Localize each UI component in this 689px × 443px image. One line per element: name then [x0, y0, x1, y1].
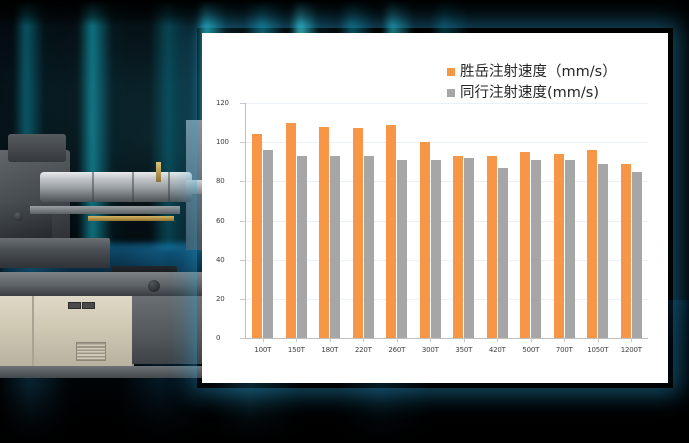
legend-swatch-gray-icon	[447, 89, 455, 97]
machine-tie-rod	[30, 206, 180, 214]
x-axis-tick-label: 1200T	[621, 346, 642, 354]
bar-shengyue	[252, 134, 262, 338]
chart-plot-area: 020406080100120 100T150T180T220T260T300T…	[230, 103, 648, 378]
bar-shengyue	[386, 125, 396, 338]
x-axis-tick-label: 420T	[489, 346, 506, 354]
x-axis-tick	[631, 338, 632, 342]
y-axis-tick-label: 120	[216, 99, 227, 107]
machine-rail	[0, 238, 110, 268]
bar-peer	[364, 156, 374, 338]
machine-cabinet	[0, 296, 134, 366]
bar-shengyue	[286, 123, 296, 338]
bar-shengyue	[621, 164, 631, 338]
bar-peer	[464, 158, 474, 338]
legend-swatch-orange-icon	[447, 68, 455, 76]
machine-cabinet-divider	[32, 296, 34, 366]
y-axis-tick-label: 80	[216, 177, 227, 185]
bar-peer	[297, 156, 307, 338]
legend-label-peer: 同行注射速度(mm/s)	[460, 86, 599, 101]
injection-molding-machine-image	[0, 120, 200, 320]
machine-vent-grille	[76, 342, 106, 361]
machine-motor-block	[8, 134, 66, 162]
bar-group: 300T	[414, 103, 448, 338]
x-axis-tick	[330, 338, 331, 342]
bar-peer	[598, 164, 608, 338]
background-bottom-vignette	[0, 385, 689, 443]
bar-group: 1050T	[581, 103, 615, 338]
bar-group: 500T	[514, 103, 548, 338]
bar-peer	[330, 156, 340, 338]
x-axis-tick	[363, 338, 364, 342]
machine-button	[68, 302, 81, 309]
y-axis-tick-label: 60	[216, 217, 227, 225]
x-axis-tick	[430, 338, 431, 342]
x-axis-tick-label: 180T	[321, 346, 338, 354]
x-axis-tick-label: 220T	[355, 346, 372, 354]
machine-button	[82, 302, 95, 309]
chart-panel: 胜岳注射速度（mm/s） 同行注射速度(mm/s) 02040608010012…	[202, 33, 668, 383]
x-axis-tick	[531, 338, 532, 342]
y-axis-tick-label: 100	[216, 138, 227, 146]
bar-group: 220T	[347, 103, 381, 338]
bar-peer	[565, 160, 575, 338]
machine-knob	[148, 280, 160, 292]
y-axis-tick-label: 20	[216, 295, 227, 303]
bar-peer	[397, 160, 407, 338]
bar-shengyue	[420, 142, 430, 338]
bar-shengyue	[319, 127, 329, 339]
x-axis-tick-label: 300T	[422, 346, 439, 354]
x-axis-tick-label: 260T	[388, 346, 405, 354]
machine-bench	[0, 272, 205, 296]
machine-gold-rod	[88, 216, 174, 221]
screenshot-root: 胜岳注射速度（mm/s） 同行注射速度(mm/s) 02040608010012…	[0, 0, 689, 443]
chart-legend: 胜岳注射速度（mm/s） 同行注射速度(mm/s)	[447, 65, 647, 106]
y-axis-tick-label: 40	[216, 256, 227, 264]
x-axis-tick	[263, 338, 264, 342]
bar-group: 260T	[380, 103, 414, 338]
x-axis-tick	[397, 338, 398, 342]
machine-guard-door	[132, 296, 204, 364]
bar-group: 100T	[246, 103, 280, 338]
bar-group: 420T	[481, 103, 515, 338]
x-axis-tick	[497, 338, 498, 342]
x-axis-tick-label: 150T	[288, 346, 305, 354]
x-axis-tick-label: 100T	[254, 346, 271, 354]
legend-label-shengyue: 胜岳注射速度（mm/s）	[460, 65, 617, 80]
bar-group: 1200T	[615, 103, 649, 338]
y-axis-tick-label: 0	[216, 334, 227, 342]
bar-group: 350T	[447, 103, 481, 338]
machine-barrel-seam	[92, 172, 94, 202]
bar-shengyue	[587, 150, 597, 338]
machine-barrel-seam	[132, 172, 134, 202]
machine-gold-fitting	[156, 162, 161, 182]
x-axis-tick-label: 500T	[522, 346, 539, 354]
machine-base	[0, 366, 205, 378]
bar-peer	[531, 160, 541, 338]
x-axis-tick	[564, 338, 565, 342]
legend-item-peer: 同行注射速度(mm/s)	[447, 86, 647, 101]
x-axis-tick	[598, 338, 599, 342]
bar-shengyue	[520, 152, 530, 338]
chart-bar-groups: 100T150T180T220T260T300T350T420T500T700T…	[246, 103, 648, 338]
bar-group: 180T	[313, 103, 347, 338]
bar-group: 150T	[280, 103, 314, 338]
x-axis-tick	[464, 338, 465, 342]
bar-peer	[632, 172, 642, 338]
x-axis-tick-label: 700T	[556, 346, 573, 354]
bar-shengyue	[453, 156, 463, 338]
chart-x-axis	[245, 338, 648, 339]
x-axis-tick-label: 1050T	[587, 346, 608, 354]
bar-peer	[431, 160, 441, 338]
x-axis-tick-label: 350T	[455, 346, 472, 354]
bar-shengyue	[487, 156, 497, 338]
machine-barrel-seam	[168, 172, 170, 202]
machine-port-circle	[14, 212, 23, 221]
x-axis-tick	[296, 338, 297, 342]
bar-shengyue	[554, 154, 564, 338]
bar-peer	[263, 150, 273, 338]
bar-peer	[498, 168, 508, 338]
legend-item-shengyue: 胜岳注射速度（mm/s）	[447, 65, 647, 80]
bar-shengyue	[353, 128, 363, 338]
bar-group: 700T	[548, 103, 582, 338]
